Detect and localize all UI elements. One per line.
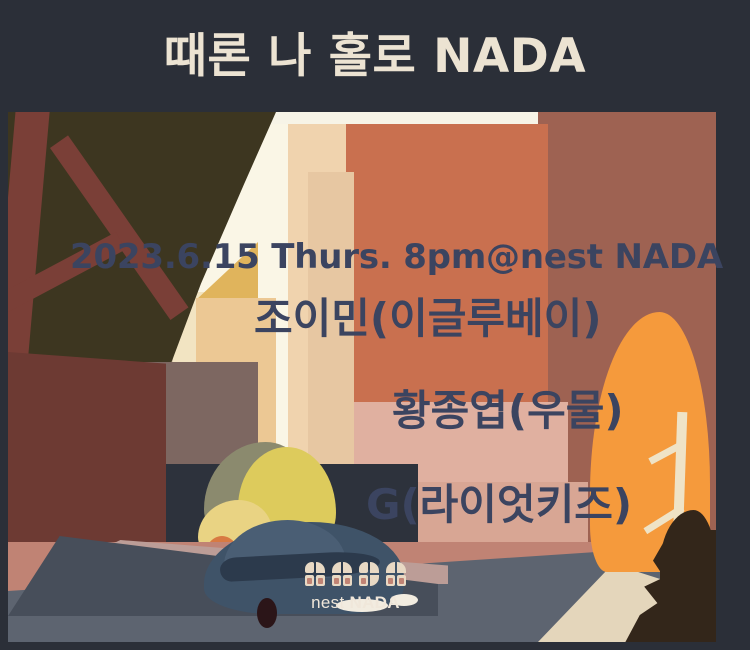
logo-glyph-n [305, 562, 325, 586]
logo-glyph-a2 [386, 562, 406, 586]
venue-logo-word-bold: NADA [350, 593, 400, 612]
event-poster: 때론 나 홀로 NADA [0, 0, 750, 650]
logo-glyph-d [359, 562, 379, 586]
lineup-act-1: 조이민(이글루베이) [254, 298, 602, 340]
poster-title-bar: 때론 나 홀로 NADA [0, 0, 750, 112]
event-date-time-venue: 2023.6.15 Thurs. 8pm@nest NADA [70, 240, 723, 274]
logo-glyph-a1 [332, 562, 352, 586]
lineup-act-2: 황종엽(우물) [392, 390, 624, 432]
nada-window-blocks-logomark-icon [305, 562, 406, 586]
page-title: 때론 나 홀로 NADA [164, 33, 586, 80]
lineup-act-3: G(라이엇키즈) [366, 484, 632, 526]
venue-logo-word-light: nest [311, 593, 349, 612]
venue-logo-wordmark: nest NADA [311, 593, 400, 613]
car-wheel [257, 598, 277, 628]
venue-logo: nest NADA [305, 562, 406, 613]
tree-branch-upper [50, 135, 188, 320]
